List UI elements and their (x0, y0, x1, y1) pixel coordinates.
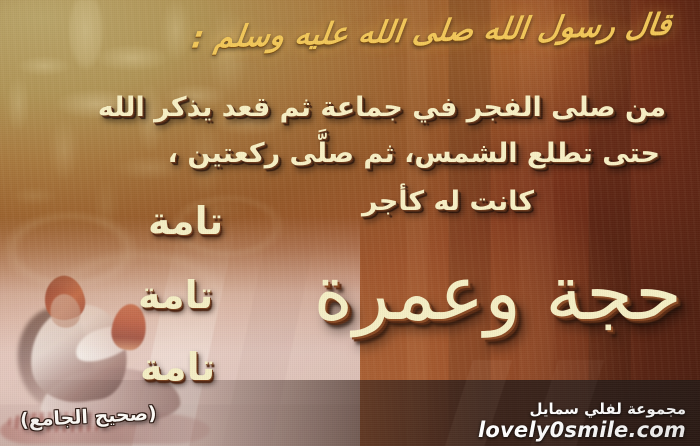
hadith-line-2: حتى تطلع الشمس، ثم صلَّى ركعتين ، (168, 138, 660, 169)
watermark-arabic: مجموعة لفلي سمايل (529, 400, 686, 418)
emphasis-word-3: تامة (140, 345, 215, 389)
reward-headline: حجة وعمرة (313, 248, 682, 337)
emphasis-word-2: تامة (138, 273, 213, 317)
watermark-url[interactable]: lovely0smile.com (478, 418, 686, 442)
emphasis-word-1: تامة (148, 199, 223, 243)
hadith-line-1: من صلى الفجر في جماعة ثم قعد يذكر الله (98, 92, 666, 123)
hadith-card: قال رسول الله صلى الله عليه وسلم : من صل… (0, 0, 700, 446)
hadith-line-3: كانت له كأجر (362, 186, 534, 217)
prophet-saying-calligraphy: قال رسول الله صلى الله عليه وسلم : (190, 7, 674, 55)
